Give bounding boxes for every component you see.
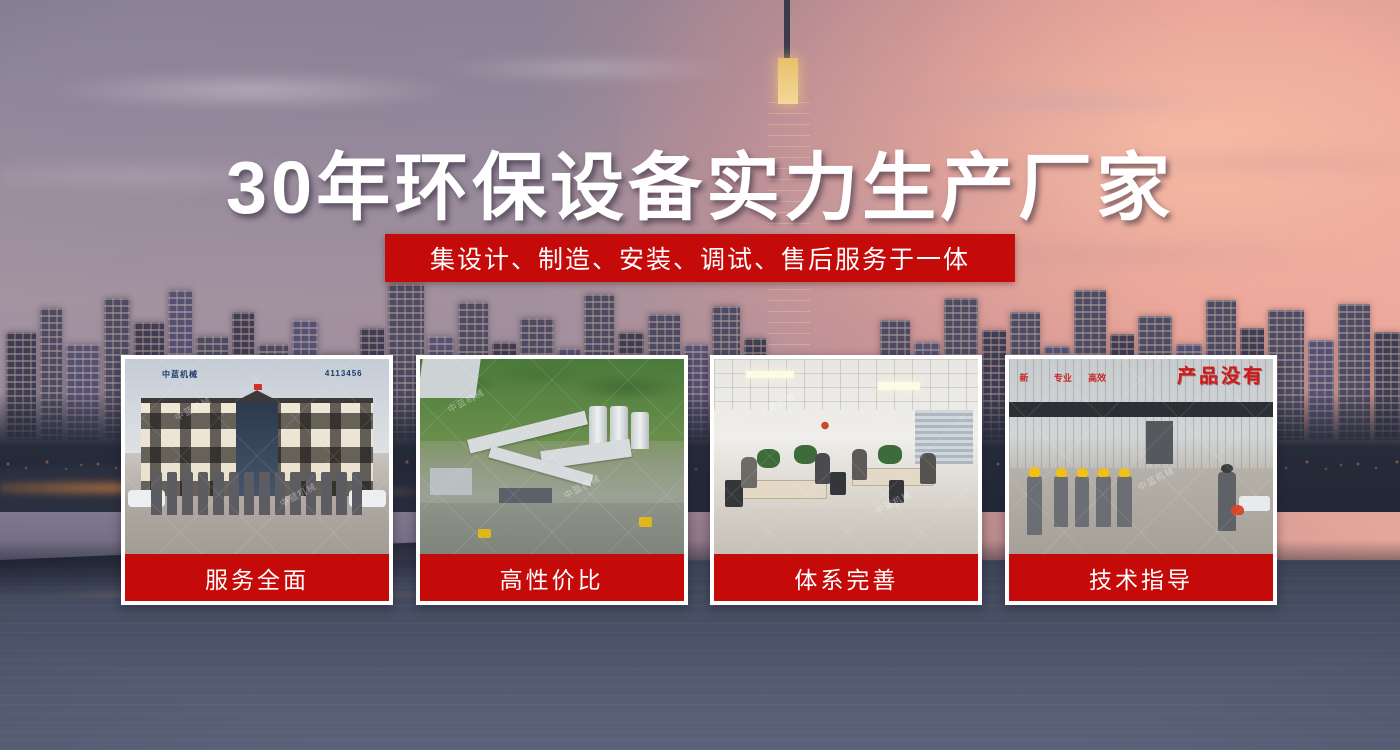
card-photo-office-interior: 中蓝机械 中蓝机械 <box>714 359 978 554</box>
factory-slogan: 专业 <box>1054 371 1072 384</box>
feature-card[interactable]: 产品没有 新 专业 高效 中蓝机械 技术指导 <box>1005 355 1277 605</box>
card-label-text: 技术指导 <box>1089 561 1193 595</box>
factory-slogan: 高效 <box>1088 371 1106 384</box>
landmark-tower-crown <box>778 58 798 104</box>
card-photo-industrial-plant: 中蓝机械 中蓝机械 <box>420 359 684 554</box>
card-label: 高性价比 <box>420 554 684 601</box>
card-label-text: 服务全面 <box>205 561 309 595</box>
building-sign-text: 中蓝机械 <box>162 369 198 380</box>
feature-card-list: 中蓝机械 4113456 中蓝机械 中蓝机械 服务全面 <box>121 355 1277 605</box>
subtitle-banner: 集设计、制造、安装、调试、售后服务于一体 <box>385 234 1015 282</box>
card-label: 体系完善 <box>714 554 978 601</box>
factory-sign-text: 产品没有 <box>1177 361 1265 388</box>
feature-card[interactable]: 中蓝机械 中蓝机械 体系完善 <box>710 355 982 605</box>
card-label: 服务全面 <box>125 554 389 601</box>
banner-stage: 30年环保设备实力生产厂家 集设计、制造、安装、调试、售后服务于一体 中蓝机械 … <box>0 0 1400 750</box>
card-label-text: 高性价比 <box>500 561 604 595</box>
page-title: 30年环保设备实力生产厂家 <box>0 128 1400 235</box>
feature-card[interactable]: 中蓝机械 中蓝机械 高性价比 <box>416 355 688 605</box>
card-photo-company-building: 中蓝机械 4113456 中蓝机械 中蓝机械 <box>125 359 389 554</box>
card-photo-workers-training: 产品没有 新 专业 高效 中蓝机械 <box>1009 359 1273 554</box>
feature-card[interactable]: 中蓝机械 4113456 中蓝机械 中蓝机械 服务全面 <box>121 355 393 605</box>
landmark-tower <box>784 0 790 62</box>
card-label-text: 体系完善 <box>794 561 898 595</box>
subtitle-text: 集设计、制造、安装、调试、售后服务于一体 <box>430 240 970 276</box>
building-phone-text: 4113456 <box>325 369 363 378</box>
card-label: 技术指导 <box>1009 554 1273 601</box>
factory-slogan: 新 <box>1020 371 1029 384</box>
